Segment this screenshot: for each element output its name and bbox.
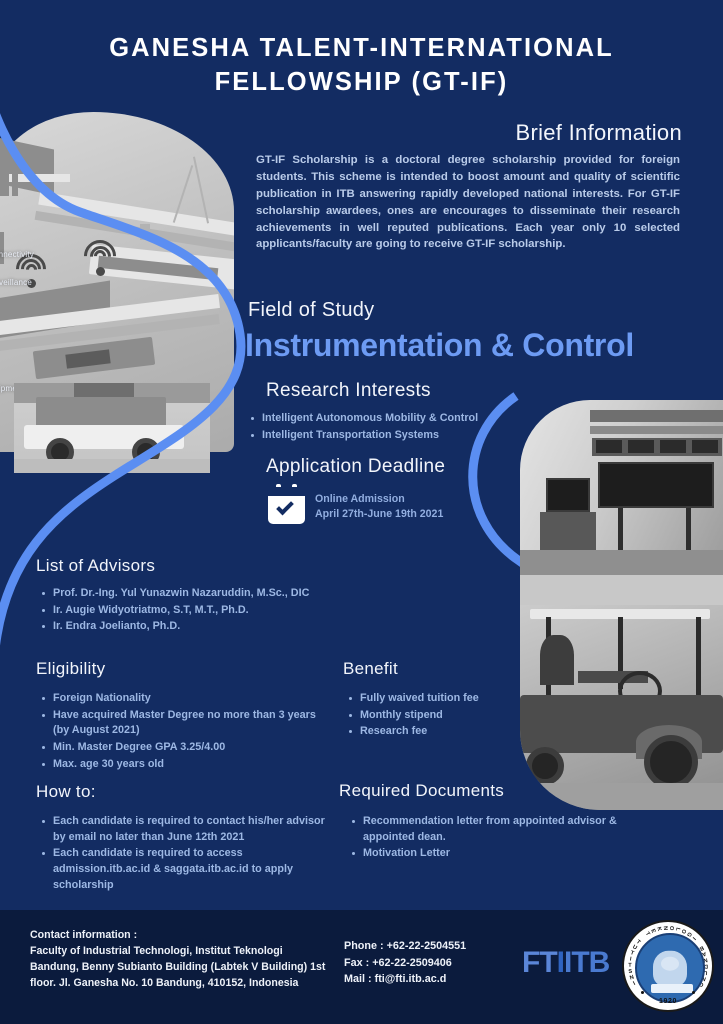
advisors-list: Prof. Dr.-Ing. Yul Yunazwin Nazaruddin, …: [40, 586, 400, 636]
list-item: Have acquired Master Degree no more than…: [40, 708, 320, 739]
eligibility-heading: Eligibility: [36, 659, 105, 679]
required-documents-list: Recommendation letter from appointed adv…: [350, 814, 620, 863]
list-item: Foreign Nationality: [40, 691, 320, 707]
how-to-heading: How to:: [36, 782, 96, 802]
list-item: Each candidate is required to access adm…: [40, 846, 330, 893]
list-item: Max. age 30 years old: [40, 757, 320, 773]
research-interests-list: Intelligent Autonomous Mobility & Contro…: [249, 411, 549, 444]
list-item: Intelligent Transportation Systems: [249, 428, 549, 444]
contact-address: Faculty of Industrial Technologi, Instit…: [30, 944, 330, 992]
eligibility-list: Foreign Nationality Have acquired Master…: [40, 691, 320, 773]
deadline-line-1: Online Admission: [315, 492, 443, 507]
list-item: Ir. Endra Joelianto, Ph.D.: [40, 619, 400, 635]
decorative-swoosh-left: [0, 104, 252, 664]
required-documents-heading: Required Documents: [339, 781, 504, 801]
poster-title: GANESHA TALENT-INTERNATIONAL FELLOWSHIP …: [0, 32, 723, 99]
benefit-list: Fully waived tuition fee Monthly stipend…: [347, 691, 567, 741]
list-item: Fully waived tuition fee: [347, 691, 567, 707]
field-of-study-heading: Field of Study: [248, 299, 375, 322]
list-item: Prof. Dr.-Ing. Yul Yunazwin Nazaruddin, …: [40, 586, 400, 602]
advisors-heading: List of Advisors: [36, 556, 155, 576]
fti-logo-part-3: ITB: [564, 946, 609, 979]
poster-title-line-2: FELLOWSHIP (GT-IF): [0, 66, 723, 100]
field-of-study-value: Instrumentation & Control: [245, 327, 634, 364]
list-item: Intelligent Autonomous Mobility & Contro…: [249, 411, 549, 427]
brief-information-heading: Brief Information: [515, 120, 682, 146]
list-item: Min. Master Degree GPA 3.25/4.00: [40, 740, 320, 756]
brief-information-text: GT-IF Scholarship is a doctoral degree s…: [256, 152, 680, 253]
laboratory-photo: [520, 400, 723, 575]
contact-mail: Mail : fti@fti.itb.ac.d: [344, 971, 466, 988]
contact-heading: Contact information :: [30, 928, 330, 944]
research-interests-heading: Research Interests: [266, 380, 431, 402]
footer-bar: Contact information : Faculty of Industr…: [0, 910, 723, 1024]
poster-title-line-1: GANESHA TALENT-INTERNATIONAL: [0, 32, 723, 66]
list-item: Research fee: [347, 724, 567, 740]
list-item: Motivation Letter: [350, 846, 620, 862]
poster-root: Connectivity Surveillance Equipment: [0, 0, 723, 1024]
calendar-check-icon: [268, 487, 305, 524]
benefit-heading: Benefit: [343, 659, 398, 679]
application-deadline-heading: Application Deadline: [266, 456, 445, 478]
contact-phone: Phone : +62-22-2504551: [344, 938, 466, 955]
deadline-line-2: April 27th-June 19th 2021: [315, 507, 443, 522]
application-deadline-dates: Online Admission April 27th-June 19th 20…: [315, 492, 443, 522]
fti-logo-part-1: FT: [522, 946, 557, 979]
how-to-list: Each candidate is required to contact hi…: [40, 814, 330, 894]
list-item: Monthly stipend: [347, 708, 567, 724]
list-item: Each candidate is required to contact hi…: [40, 814, 330, 845]
list-item: Recommendation letter from appointed adv…: [350, 814, 620, 845]
contact-phone-block: Phone : +62-22-2504551 Fax : +62-22-2509…: [344, 938, 466, 988]
ganesha-figure-icon: [653, 951, 687, 987]
contact-block: Contact information : Faculty of Industr…: [30, 928, 330, 992]
fti-itb-logo: FTIITB: [522, 946, 609, 980]
fti-logo-part-2: I: [557, 946, 564, 979]
contact-fax: Fax : +62-22-2509406: [344, 955, 466, 972]
itb-seal-year: 1920: [624, 998, 712, 1005]
itb-seal-logo: INSTITUT TEKNOLOGI BANDUNG 1920: [622, 920, 714, 1012]
list-item: Ir. Augie Widyotriatmo, S.T, M.T., Ph.D.: [40, 603, 400, 619]
